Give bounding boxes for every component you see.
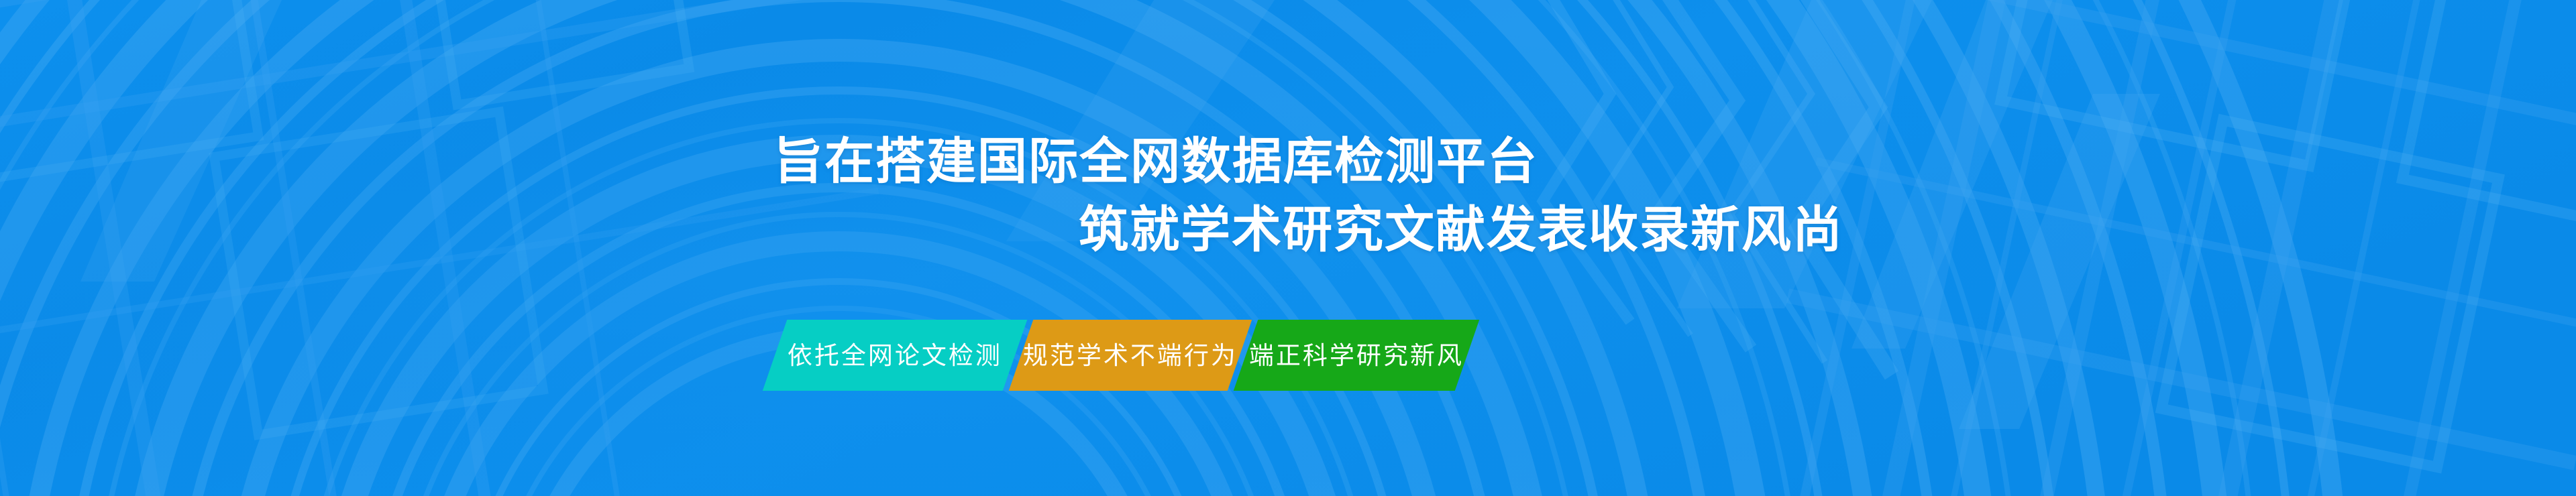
headline-line-2: 筑就学术研究文献发表收录新风尚 [1079,205,1843,255]
feature-tag-academic-misconduct[interactable]: 规范学术不端行为 [1009,320,1252,391]
feature-tag-label: 端正科学研究新风 [1249,343,1464,368]
feature-tag-strip: 依托全网论文检测 规范学术不端行为 端正科学研究新风 [775,320,1467,391]
headline-line-1: 旨在搭建国际全网数据库检测平台 [773,137,1538,186]
feature-tag-label: 依托全网论文检测 [788,343,1002,368]
feature-tag-plagiarism-detection[interactable]: 依托全网论文检测 [763,320,1027,391]
feature-tag-label: 规范学术不端行为 [1023,343,1238,368]
hero-banner: 旨在搭建国际全网数据库检测平台 筑就学术研究文献发表收录新风尚 依托全网论文检测… [0,0,2576,496]
feature-tag-research-ethics[interactable]: 端正科学研究新风 [1234,320,1479,391]
